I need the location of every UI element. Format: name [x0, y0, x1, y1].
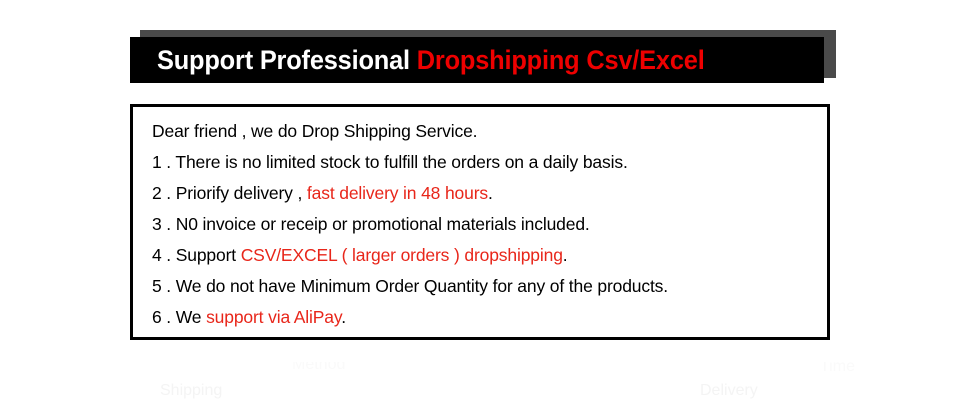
info-line-5: 5 . We do not have Minimum Order Quantit… — [152, 271, 821, 302]
banner-headline-accent: Dropshipping Csv/Excel — [417, 45, 705, 75]
promo-page: Support Professional Dropshipping Csv/Ex… — [0, 0, 960, 400]
banner-headline-primary: Support Professional — [157, 45, 417, 75]
info-line-3-text-0: 3 . N0 invoice or receip or promotional … — [152, 214, 590, 234]
info-line-4: 4 . Support CSV/EXCEL ( larger orders ) … — [152, 240, 821, 271]
info-line-greeting-text-0: Dear friend , we do Drop Shipping Servic… — [152, 121, 477, 141]
info-line-2-text-0: 2 . Priorify delivery , — [152, 183, 307, 203]
info-line-greeting: Dear friend , we do Drop Shipping Servic… — [152, 116, 821, 147]
info-line-6: 6 . We support via AliPay. — [152, 302, 821, 333]
clipped-fragment-right: Delivery — [700, 382, 758, 400]
info-line-4-text-0: 4 . Support — [152, 245, 241, 265]
info-line-6-text-2: . — [341, 307, 346, 327]
info-line-1-text-0: 1 . There is no limited stock to fulfill… — [152, 152, 628, 172]
dropshipping-info-box: Dear friend , we do Drop Shipping Servic… — [130, 104, 830, 340]
info-line-3: 3 . N0 invoice or receip or promotional … — [152, 209, 821, 240]
clipped-fragment-right-secondary: Time — [820, 362, 855, 376]
clipped-next-section: Shipping Method Delivery Time — [0, 362, 960, 400]
clipped-fragment-left-secondary: Method — [292, 362, 345, 374]
info-line-4-highlight: CSV/EXCEL ( larger orders ) dropshipping — [241, 245, 563, 265]
info-line-2-highlight: fast delivery in 48 hours — [307, 183, 488, 203]
info-line-2-text-2: . — [488, 183, 493, 203]
info-line-6-highlight: support via AliPay — [206, 307, 341, 327]
clipped-fragment-left: Shipping — [160, 382, 222, 400]
info-line-2: 2 . Priorify delivery , fast delivery in… — [152, 178, 821, 209]
info-line-1: 1 . There is no limited stock to fulfill… — [152, 147, 821, 178]
banner-bar: Support Professional Dropshipping Csv/Ex… — [130, 37, 824, 83]
banner: Support Professional Dropshipping Csv/Ex… — [130, 30, 826, 83]
info-line-5-text-0: 5 . We do not have Minimum Order Quantit… — [152, 276, 668, 296]
info-line-list: Dear friend , we do Drop Shipping Servic… — [152, 116, 821, 333]
banner-headline: Support Professional Dropshipping Csv/Ex… — [157, 47, 705, 74]
info-line-6-text-0: 6 . We — [152, 307, 206, 327]
info-line-4-text-2: . — [563, 245, 568, 265]
